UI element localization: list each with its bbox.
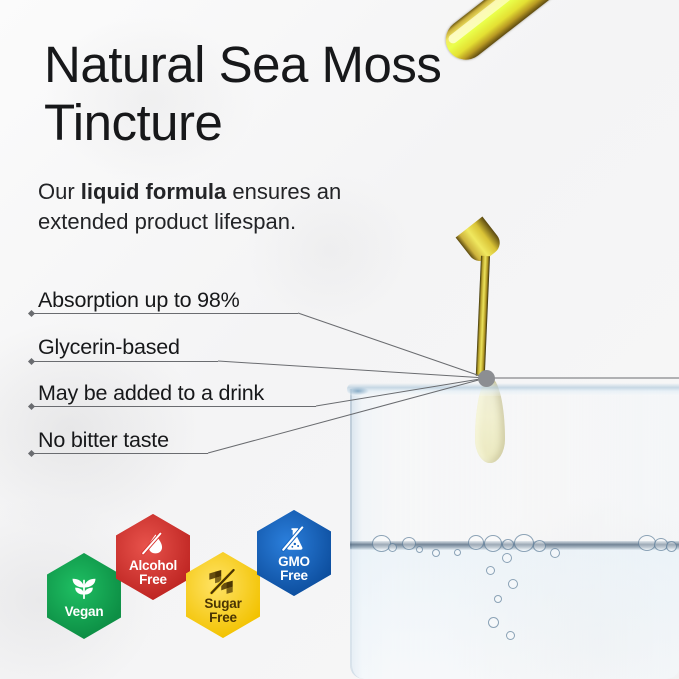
badge-label-line1: Vegan — [65, 605, 104, 619]
badge-label-line2: Free — [204, 611, 241, 625]
droplet-slash-icon — [136, 528, 170, 558]
certification-badges: Vegan Alcohol Free — [0, 0, 679, 679]
badge-label-line1: Alcohol — [129, 559, 177, 573]
badge-label-line2: Free — [129, 573, 177, 587]
badge-label: Vegan — [65, 605, 104, 619]
badge-label: GMO Free — [278, 555, 310, 582]
badge-label: Alcohol Free — [129, 559, 177, 586]
badge-label-line1: Sugar — [204, 597, 241, 611]
flask-slash-icon — [277, 524, 311, 554]
sugar-cubes-slash-icon — [206, 566, 240, 596]
infographic-canvas: Natural Sea Moss Tincture Our liquid for… — [0, 0, 679, 679]
badge-vegan: Vegan — [41, 553, 127, 639]
badge-sugar-free: Sugar Free — [180, 552, 266, 638]
badge-label-line1: GMO — [278, 555, 310, 569]
badge-label: Sugar Free — [204, 597, 241, 624]
leaves-icon — [67, 574, 101, 604]
badge-label-line2: Free — [278, 569, 310, 583]
badge-alcohol-free: Alcohol Free — [110, 514, 196, 600]
badge-gmo-free: GMO Free — [251, 510, 337, 596]
